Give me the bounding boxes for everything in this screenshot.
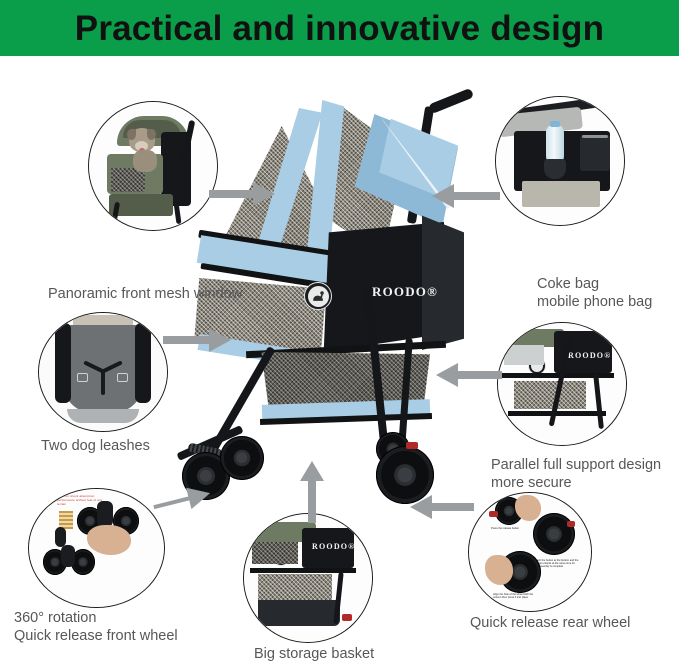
arrow-360-rotation-front-wheel [152,482,212,510]
callout-photo-dog-in-stroller [89,102,217,230]
callout-360-rotation-front-wheel: Superior shock absorption performance wi… [28,488,165,608]
rear-wheel-release-tab [406,442,418,449]
cw3-stem-detached [55,527,66,547]
callout-big-storage-basket: ROODO® [243,513,373,643]
cw3-hand [87,525,131,555]
arrow-big-storage-basket [298,461,326,523]
label-panoramic-front-mesh-window: Panoramic front mesh window [48,286,242,304]
arrow-two-dog-leashes [163,326,235,354]
cw5-cabin-floor [522,181,600,207]
front-wheel-inner [220,436,264,480]
cw5-zipper [582,135,608,138]
callout-photo-coke-bag [496,97,624,225]
label-quick-release-rear-wheel: Quick release rear wheel [470,615,630,633]
brand-badge-inner [308,286,329,307]
cw6-front-window [504,345,544,365]
label-parallel-full-support-design: Parallel full support design more secure [491,457,661,492]
cw3-axle-lower [61,545,75,567]
cw2-clip-left [77,373,88,382]
cw2-leash-tail [101,371,105,395]
page-title: Practical and innovative design [75,11,604,46]
cw7-wheel-closeup [533,513,575,555]
cw7-caption-3: Align the hole of the wheel with the col… [493,593,541,599]
cw7-caption-1: Press the release button [491,527,527,530]
cw7-caption-2: Push the button at the bottom and the wh… [535,559,579,569]
cw4-side-mesh [252,542,298,564]
infographic-stage: ROODO® [0,56,679,631]
page-header: Practical and innovative design [0,0,679,56]
brand-badge-icon [304,282,332,310]
arrow-coke-bag [428,182,500,212]
cw5-bottle-cap [550,121,560,127]
label-two-dog-leashes: Two dog leashes [41,438,150,456]
callout-coke-bag-mobile-phone-bag [495,96,625,226]
cw7-release-tab-top [489,511,498,517]
cw7-release-tab-closeup [567,521,575,527]
label-360-rotation-front-wheel: 360° rotation Quick release front wheel [14,610,178,645]
cw3-axle-upper [97,501,113,527]
cw2-side-wall-left [55,323,71,403]
arrow-panoramic-front-mesh-window [209,179,279,209]
cw2-clip-right [117,373,128,382]
cw4-basket-mesh [258,574,332,602]
arrow-quick-release-rear-wheel [408,493,474,523]
callout-quick-release-rear-wheel: Press the release button Push the button… [468,492,592,612]
label-coke-bag-mobile-phone-bag: Coke bag mobile phone bag [537,276,652,311]
cw4-release-tab [342,614,352,621]
callout-photo-front-wheel: Superior shock absorption performance wi… [29,489,164,607]
callout-two-dog-leashes [38,312,168,432]
callout-photo-rear-wheel: Press the release button Push the button… [469,493,591,611]
cw2-bottom-rail [67,409,139,423]
cw7-hand-top [515,495,541,521]
cw6-basket-mesh [514,381,586,409]
cw4-basket-wall [258,600,340,626]
callout-photo-leashes [39,313,167,431]
cw1-dog [127,128,163,168]
cw1-dog-ear-right [147,129,156,140]
callout-panoramic-front-mesh-window [88,101,218,231]
cw2-side-wall-right [135,323,151,403]
brand-wordmark: ROODO® [372,284,438,300]
cw1-dog-ear-left [127,129,136,140]
cw5-phone-pocket [580,135,610,171]
cw5-bottle-holder [544,159,566,179]
cw4-brand-wordmark: ROODO® [312,542,355,551]
dog-silhouette-icon [308,286,329,307]
callout-photo-parallel-support: ROODO® [498,323,626,445]
cw6-leg-rear [593,373,604,429]
cw7-hand-bottom [485,555,513,585]
cw6-support-bar-lower [508,411,606,416]
cabin-body-side [422,210,464,350]
arrow-parallel-full-support-design [434,361,502,391]
label-big-storage-basket: Big storage basket [254,646,374,664]
callout-parallel-full-support-design: ROODO® [497,322,627,446]
cw1-dog-body [133,150,157,172]
cw6-brand-wordmark: ROODO® [568,351,611,360]
callout-photo-storage-basket: ROODO® [244,514,372,642]
main-product-image: ROODO® [176,90,476,520]
